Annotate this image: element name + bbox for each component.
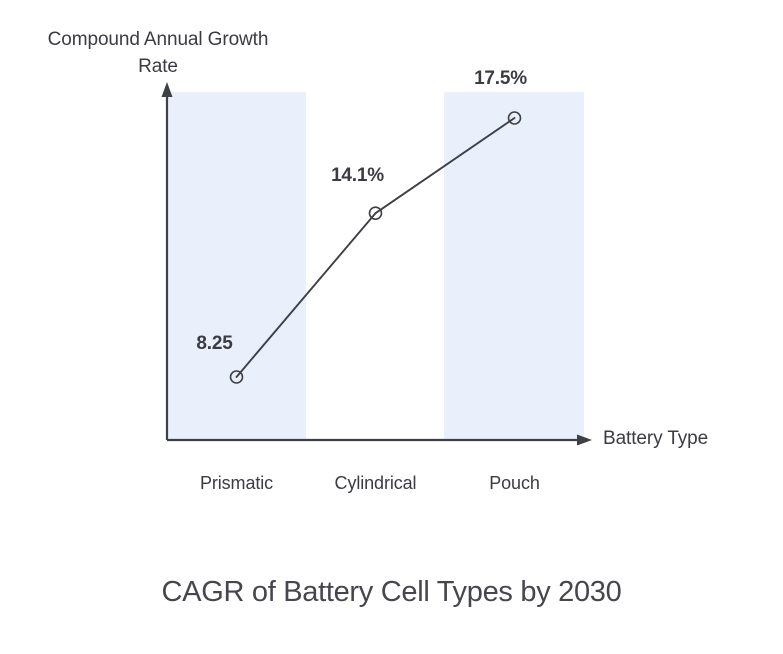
x-axis-title: Battery Type bbox=[603, 428, 708, 450]
data-point-marker[interactable] bbox=[231, 371, 243, 383]
category-band-pouch bbox=[444, 92, 584, 440]
x-axis-tick-label-prismatic: Prismatic bbox=[200, 473, 273, 494]
chart-title: CAGR of Battery Cell Types by 2030 bbox=[0, 576, 783, 609]
data-point-marker[interactable] bbox=[509, 112, 521, 124]
category-band-prismatic bbox=[167, 92, 306, 440]
data-point-marker[interactable] bbox=[370, 207, 382, 219]
data-point-label-cylindrical: 14.1% bbox=[331, 165, 384, 187]
y-axis-arrowhead bbox=[162, 82, 173, 97]
chart-plot-area bbox=[0, 0, 783, 654]
data-point-label-prismatic: 8.25 bbox=[196, 333, 232, 355]
chart-container: Compound Annual Growth Rate Battery Type… bbox=[0, 0, 783, 654]
x-axis-tick-label-cylindrical: Cylindrical bbox=[335, 473, 417, 494]
x-axis-tick-label-pouch: Pouch bbox=[489, 473, 540, 494]
y-axis-title: Compound Annual Growth Rate bbox=[8, 26, 308, 80]
data-point-label-pouch: 17.5% bbox=[474, 68, 527, 90]
x-axis-arrowhead bbox=[577, 435, 592, 446]
